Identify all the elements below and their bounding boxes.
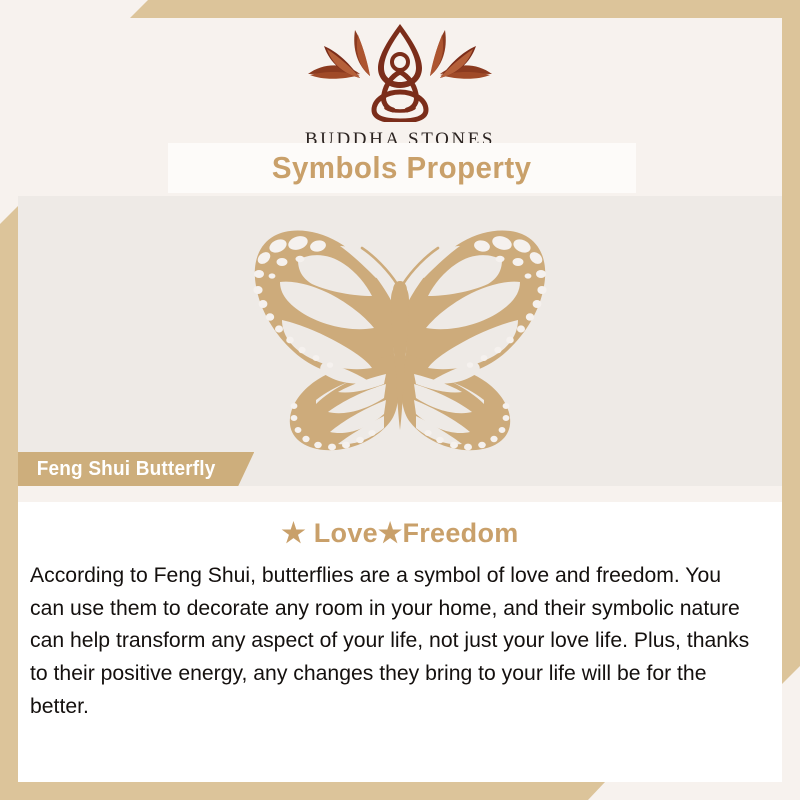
frame-band-top <box>0 0 800 18</box>
feng-shui-butterfly-tag: Feng Shui Butterfly <box>18 452 254 486</box>
poster-root: BUDDHA STONES Symbols Property <box>0 0 800 800</box>
subheading: ★ Love★Freedom <box>18 518 782 549</box>
butterfly-icon <box>220 224 580 459</box>
brand-header: BUDDHA STONES <box>0 22 800 151</box>
body-paragraph: According to Feng Shui, butterflies are … <box>30 559 757 722</box>
frame-band-bottom <box>0 782 800 800</box>
description-panel: ★ Love★Freedom According to Feng Shui, b… <box>18 502 782 782</box>
page-title: Symbols Property <box>272 150 532 186</box>
tag-label: Feng Shui Butterfly <box>37 458 216 481</box>
title-banner: Symbols Property <box>168 143 636 193</box>
artwork-panel <box>18 196 782 486</box>
lotus-meditation-icon <box>0 22 800 127</box>
